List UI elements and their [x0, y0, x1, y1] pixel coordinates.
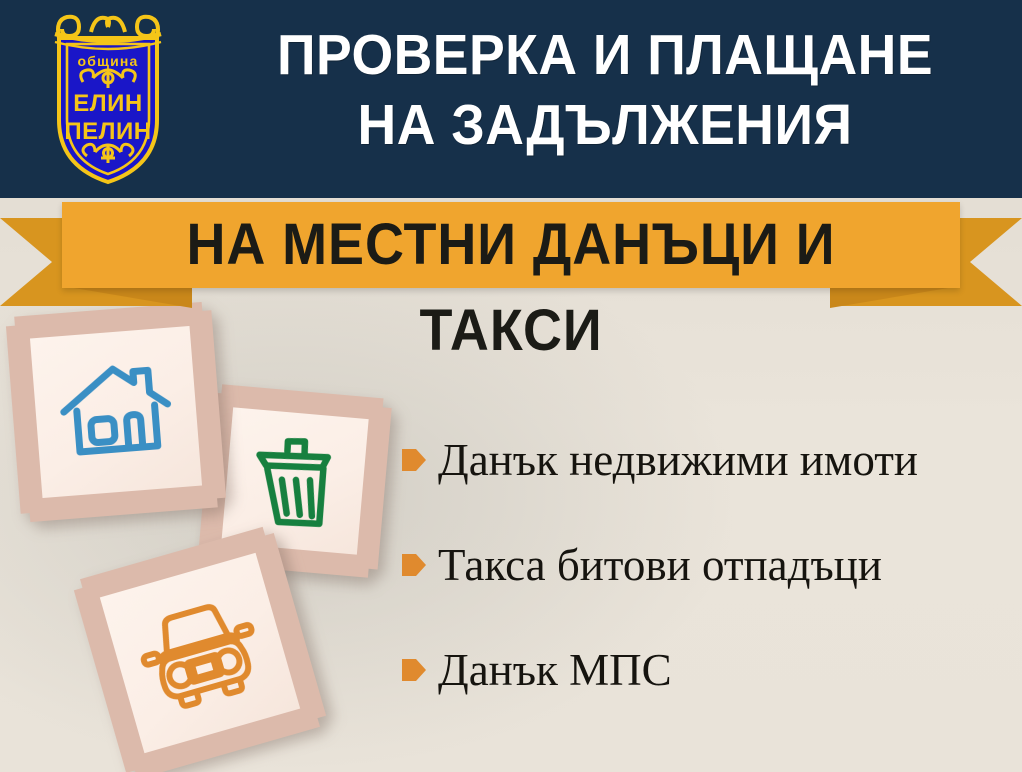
municipality-crest: община ЕЛИН ПЕЛИН — [33, 8, 183, 188]
arrow-bullet-icon — [402, 447, 426, 473]
list-item-label: Такса битови отпадъци — [438, 543, 882, 588]
crest-name-line2: ПЕЛИН — [64, 118, 151, 145]
ribbon-subtitle: НА МЕСТНИ ДАНЪЦИ И ТАКСИ — [93, 202, 928, 288]
stamp-paper — [30, 326, 202, 498]
stamp-house — [15, 311, 217, 513]
subtitle-ribbon: НА МЕСТНИ ДАНЪЦИ И ТАКСИ — [0, 196, 1022, 312]
poster-canvas: община ЕЛИН ПЕЛИН — [0, 0, 1022, 772]
page-title-line-2: НА ЗАДЪЛЖЕНИЯ — [215, 90, 995, 160]
list-item[interactable]: Данък недвижими имоти — [402, 424, 1018, 496]
arrow-bullet-icon — [402, 657, 426, 683]
crest-svg: община ЕЛИН ПЕЛИН — [33, 8, 183, 188]
stamp-paper — [100, 553, 300, 753]
crest-municipality-word: община — [77, 53, 138, 69]
crest-name-line1: ЕЛИН — [73, 90, 142, 117]
stamp-car — [82, 535, 317, 770]
page-title: ПРОВЕРКА И ПЛАЩАНЕ НА ЗАДЪЛЖЕНИЯ — [215, 20, 995, 160]
page-title-line-1: ПРОВЕРКА И ПЛАЩАНЕ — [277, 23, 933, 87]
tax-type-list: Данък недвижими имоти Такса битови отпад… — [402, 424, 1018, 739]
arrow-bullet-icon — [402, 552, 426, 578]
ribbon-main-panel: НА МЕСТНИ ДАНЪЦИ И ТАКСИ — [62, 202, 960, 288]
list-item[interactable]: Данък МПС — [402, 634, 1018, 706]
list-item[interactable]: Такса битови отпадъци — [402, 529, 1018, 601]
list-item-label: Данък недвижими имоти — [438, 438, 918, 483]
house-icon — [30, 326, 202, 498]
car-front-icon — [100, 553, 300, 753]
list-item-label: Данък МПС — [438, 648, 672, 693]
header-banner: община ЕЛИН ПЕЛИН — [0, 0, 1022, 198]
